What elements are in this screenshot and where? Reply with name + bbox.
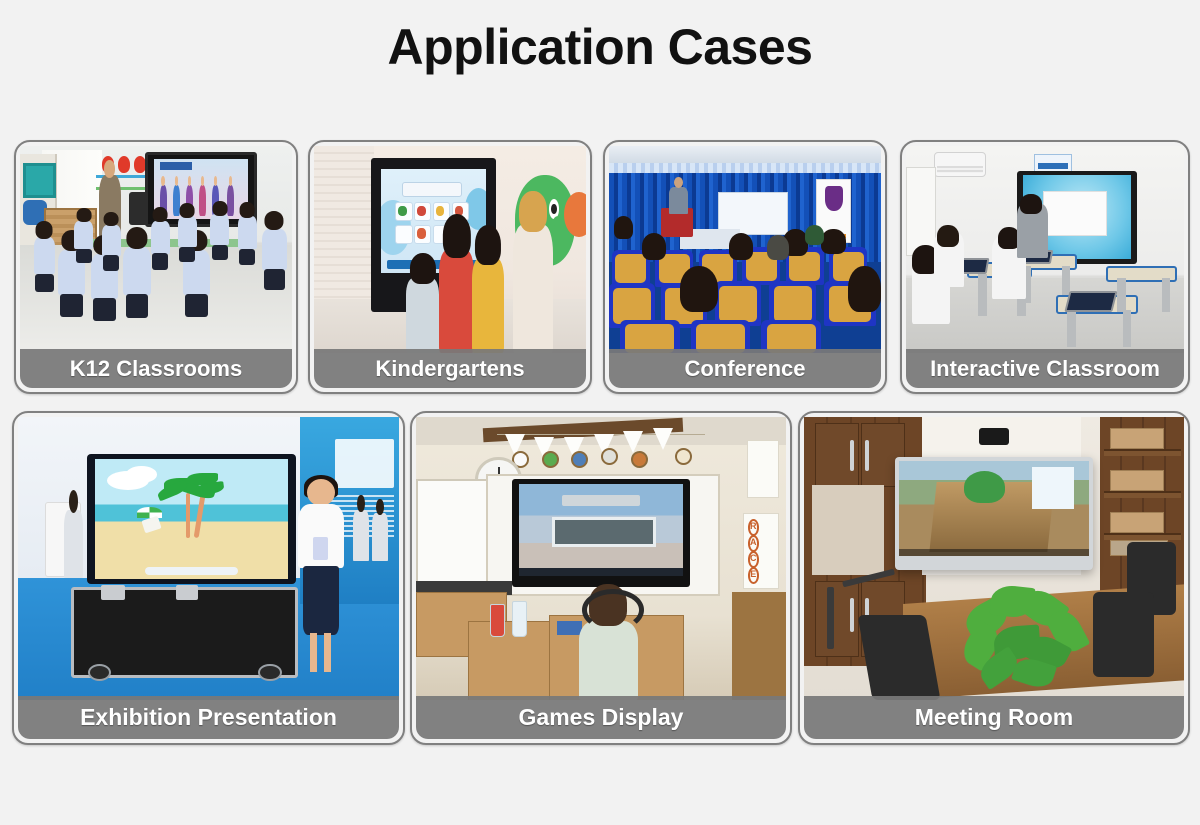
case-photo-interactive-classroom <box>906 146 1184 353</box>
case-caption-exhibition-presentation: Exhibition Presentation <box>18 696 399 739</box>
application-cases-page: Application Cases <box>0 0 1200 825</box>
case-photo-games-display: R A C E <box>416 417 786 700</box>
case-caption-conference: Conference <box>609 349 881 388</box>
case-caption-kindergartens: Kindergartens <box>314 349 586 388</box>
case-photo-conference <box>609 146 881 353</box>
case-card-games-display[interactable]: R A C E Games Display <box>410 411 792 745</box>
case-photo-k12-classrooms <box>20 146 292 353</box>
case-card-exhibition-presentation[interactable]: Exhibition Presentation <box>12 411 405 745</box>
case-card-conference[interactable]: Conference <box>603 140 887 394</box>
case-caption-games-display: Games Display <box>416 696 786 739</box>
case-photo-exhibition-presentation <box>18 417 399 700</box>
case-caption-meeting-room: Meeting Room <box>804 696 1184 739</box>
case-card-meeting-room[interactable]: Meeting Room <box>798 411 1190 745</box>
case-caption-interactive-classroom: Interactive Classroom <box>906 349 1184 388</box>
page-title: Application Cases <box>0 18 1200 76</box>
case-card-k12-classrooms[interactable]: K12 Classrooms <box>14 140 298 394</box>
case-caption-k12-classrooms: K12 Classrooms <box>20 349 292 388</box>
case-card-kindergartens[interactable]: Kindergartens <box>308 140 592 394</box>
case-photo-kindergartens <box>314 146 586 353</box>
case-card-interactive-classroom[interactable]: Interactive Classroom <box>900 140 1190 394</box>
case-photo-meeting-room <box>804 417 1184 700</box>
